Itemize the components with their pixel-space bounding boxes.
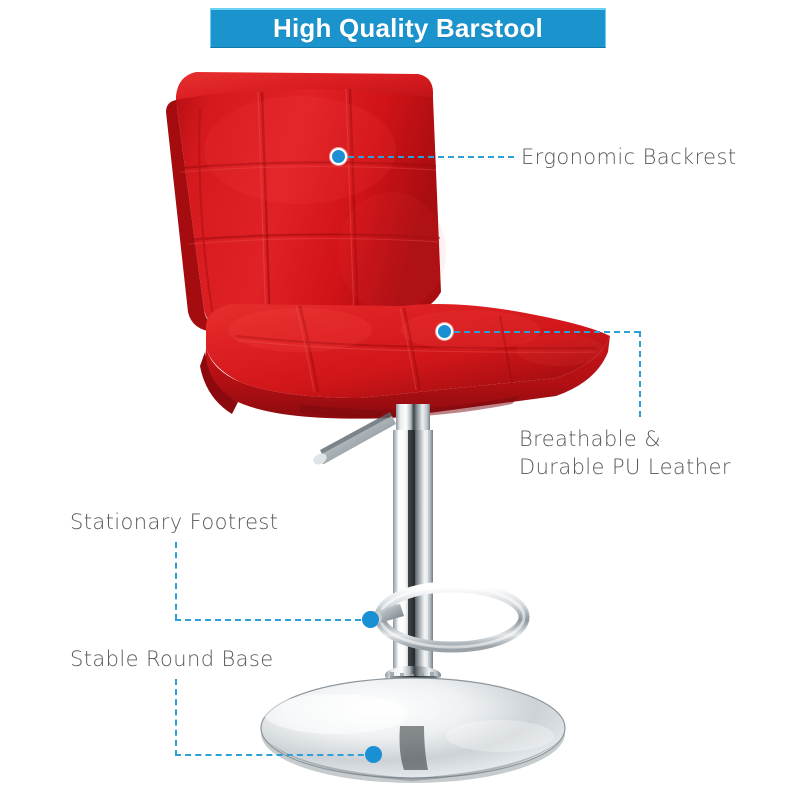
callout-label-ergonomic-backrest: Ergonomic Backrest (521, 143, 736, 171)
callout-dot-footrest[interactable] (362, 611, 379, 628)
leader-line-leather-vertical (639, 331, 641, 417)
callout-label-stationary-footrest: Stationary Footrest (70, 508, 278, 536)
callout-dot-leather[interactable] (436, 323, 453, 340)
leader-line-base-horizontal (175, 754, 374, 756)
product-infographic: High Quality Barstool Ergonomic Backrest… (0, 0, 800, 800)
banner-title: High Quality Barstool (273, 13, 543, 44)
leader-line-base-vertical (175, 679, 177, 756)
backrest (166, 72, 446, 332)
leader-line-footrest-horizontal (175, 619, 371, 621)
callout-dot-base[interactable] (365, 746, 382, 763)
height-adjustment-lever (311, 412, 396, 467)
leader-line-backrest (348, 156, 514, 158)
footrest-ring (366, 587, 524, 647)
leader-line-leather-horizontal (454, 331, 640, 333)
barstool-illustration (0, 0, 800, 800)
callout-label-stable-round-base: Stable Round Base (70, 645, 274, 673)
callout-dot-backrest[interactable] (330, 148, 347, 165)
round-base (261, 676, 565, 783)
seat-cushion (200, 304, 610, 419)
title-banner: High Quality Barstool (210, 8, 606, 48)
callout-label-breathable-durable-pu-leather: Breathable & Durable PU Leather (519, 425, 731, 481)
leader-line-footrest-vertical (175, 542, 177, 620)
